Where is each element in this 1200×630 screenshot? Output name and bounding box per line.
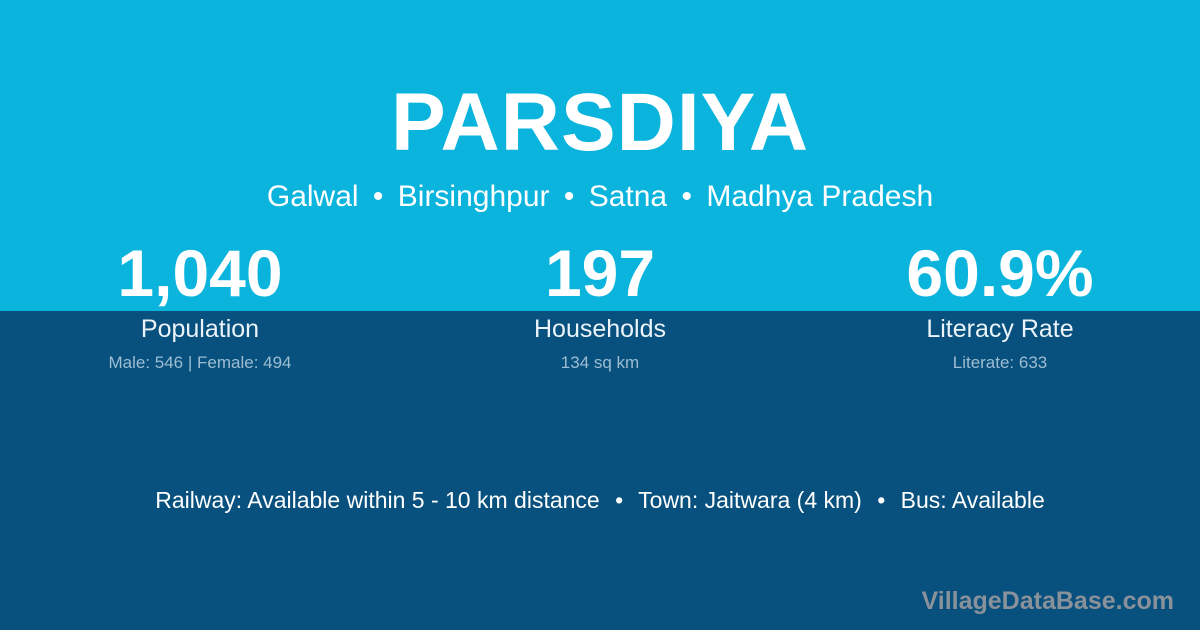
stat-population: 1,040 Population Male: 546 | Female: 494	[0, 240, 400, 373]
infrastructure-separator: •	[606, 487, 632, 513]
infrastructure-item-town: Town: Jaitwara (4 km)	[638, 487, 862, 513]
breadcrumb-separator: •	[367, 180, 390, 213]
infrastructure-item-railway: Railway: Available within 5 - 10 km dist…	[155, 487, 599, 513]
stat-sublabel: Literate: 633	[800, 353, 1200, 373]
stat-label: Literacy Rate	[800, 315, 1200, 343]
site-watermark: VillageDataBase.com	[922, 586, 1174, 616]
stat-label: Population	[0, 315, 400, 343]
breadcrumb-item-3[interactable]: Madhya Pradesh	[706, 180, 933, 213]
breadcrumb-separator: •	[675, 180, 698, 213]
infrastructure-item-bus: Bus: Available	[901, 487, 1045, 513]
infrastructure-separator: •	[868, 487, 894, 513]
stat-value: 60.9%	[800, 240, 1200, 306]
page-title: PARSDIYA	[0, 0, 1200, 164]
card-header: PARSDIYA Galwal • Birsinghpur • Satna • …	[0, 0, 1200, 212]
breadcrumb: Galwal • Birsinghpur • Satna • Madhya Pr…	[0, 164, 1200, 212]
village-info-card: PARSDIYA Galwal • Birsinghpur • Satna • …	[0, 0, 1200, 630]
stats-row: 1,040 Population Male: 546 | Female: 494…	[0, 240, 1200, 373]
stat-value: 197	[400, 240, 800, 306]
breadcrumb-item-0[interactable]: Galwal	[267, 180, 359, 213]
stat-sublabel: Male: 546 | Female: 494	[0, 353, 400, 373]
stat-label: Households	[400, 315, 800, 343]
stat-literacy-rate: 60.9% Literacy Rate Literate: 633	[800, 240, 1200, 373]
breadcrumb-separator: •	[558, 180, 581, 213]
stat-value: 1,040	[0, 240, 400, 306]
breadcrumb-item-1[interactable]: Birsinghpur	[398, 180, 550, 213]
stat-households: 197 Households 134 sq km	[400, 240, 800, 373]
stat-sublabel: 134 sq km	[400, 353, 800, 373]
infrastructure-line: Railway: Available within 5 - 10 km dist…	[0, 486, 1200, 514]
breadcrumb-item-2[interactable]: Satna	[589, 180, 667, 213]
